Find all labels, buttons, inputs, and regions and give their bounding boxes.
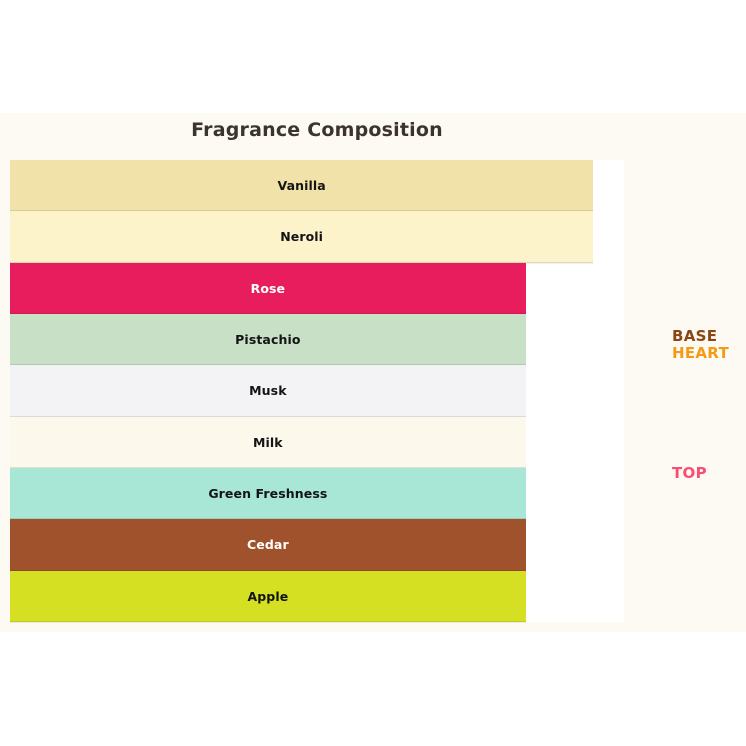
bar-row: Rose: [10, 263, 624, 314]
plot-area: VanillaNeroliRosePistachioMuskMilkGreen …: [10, 160, 624, 622]
page-title: Fragrance Composition: [0, 119, 634, 141]
bar-segment[interactable]: [10, 468, 526, 519]
bar-segment[interactable]: [10, 263, 526, 314]
bar-row: Apple: [10, 571, 624, 622]
bar-row: Vanilla: [10, 160, 624, 211]
bar-row: Neroli: [10, 211, 624, 262]
bar-segment[interactable]: [10, 314, 526, 365]
bar-segment[interactable]: [10, 417, 526, 468]
bar-segment[interactable]: [10, 571, 526, 622]
bar-row: Musk: [10, 365, 624, 416]
stage-label-heart: HEART: [672, 344, 729, 362]
bar-row: Pistachio: [10, 314, 624, 365]
bar-row: Cedar: [10, 519, 624, 570]
bar-row: Green Freshness: [10, 468, 624, 519]
stage-label-top: TOP: [672, 464, 707, 482]
bar-segment[interactable]: [10, 519, 526, 570]
stage-label-base: BASE: [672, 327, 717, 345]
bar-segment[interactable]: [10, 211, 593, 262]
bar-segment[interactable]: [10, 365, 526, 416]
figure-panel: Fragrance Composition VanillaNeroliRoseP…: [0, 113, 746, 632]
figure-canvas: Fragrance Composition VanillaNeroliRoseP…: [0, 0, 746, 746]
bar-segment[interactable]: [10, 160, 593, 211]
bar-row: Milk: [10, 417, 624, 468]
